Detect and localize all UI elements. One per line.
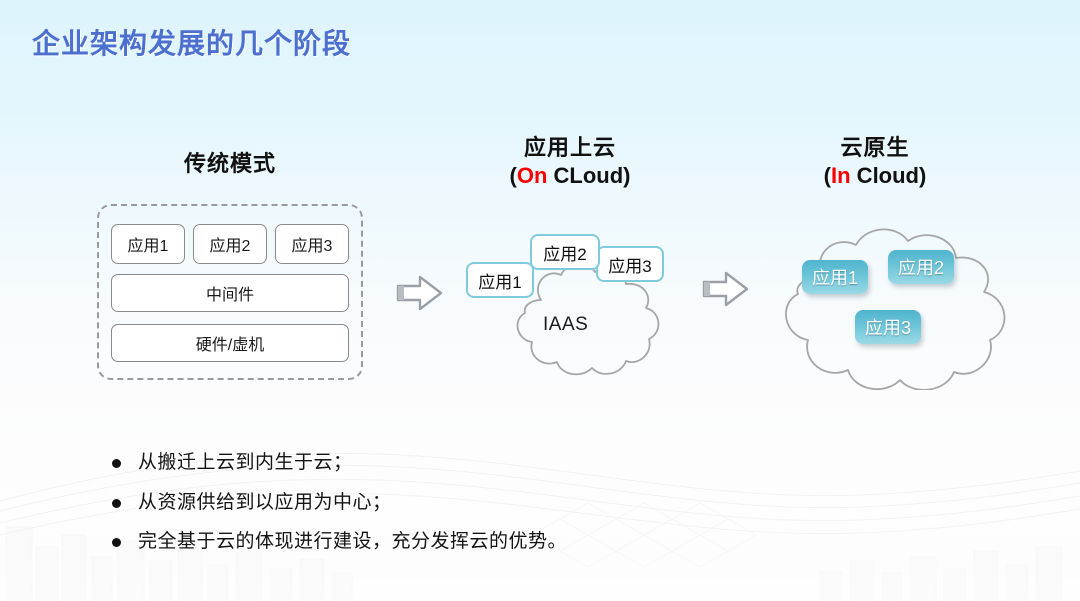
column-heading-traditional: 传统模式 bbox=[97, 150, 363, 178]
in-cloud-app-3[interactable]: 应用3 bbox=[855, 310, 921, 344]
on-cloud-app-1[interactable]: 应用1 bbox=[466, 262, 534, 298]
heading-en-in-cloud-highlight: In bbox=[831, 163, 851, 188]
bullet-list: 从搬迁上云到内生于云； 从资源供给到以应用为中心； 完全基于云的体现进行建设，充… bbox=[112, 450, 567, 569]
bullet-dot-icon bbox=[112, 499, 121, 508]
column-heading-on-cloud: 应用上云 (On CLoud) bbox=[440, 134, 700, 189]
heading-en-in-cloud-rest: Cloud) bbox=[851, 163, 927, 188]
in-cloud-app-1[interactable]: 应用1 bbox=[802, 260, 868, 294]
heading-cn-on-cloud: 应用上云 bbox=[440, 134, 700, 162]
heading-en-on-cloud: (On CLoud) bbox=[440, 162, 700, 190]
heading-en-in-cloud-prefix: ( bbox=[824, 163, 831, 188]
bullet-text-3: 完全基于云的体现进行建设，充分发挥云的优势。 bbox=[138, 529, 567, 555]
bullet-text-2: 从资源供给到以应用为中心； bbox=[138, 490, 392, 516]
traditional-hardware-box[interactable]: 硬件/虚机 bbox=[111, 324, 349, 362]
heading-en-on-cloud-rest: CLoud) bbox=[547, 163, 630, 188]
cloud-native-cloud-shape bbox=[766, 222, 1028, 390]
traditional-middleware-box[interactable]: 中间件 bbox=[111, 274, 349, 312]
page-title: 企业架构发展的几个阶段 bbox=[32, 22, 351, 62]
on-cloud-app-3[interactable]: 应用3 bbox=[596, 246, 664, 282]
bullet-dot-icon bbox=[112, 459, 121, 468]
column-heading-in-cloud: 云原生 (In Cloud) bbox=[745, 134, 1005, 189]
in-cloud-app-2[interactable]: 应用2 bbox=[888, 250, 954, 284]
heading-cn-traditional: 传统模式 bbox=[97, 150, 363, 178]
heading-en-in-cloud: (In Cloud) bbox=[745, 162, 1005, 190]
traditional-apps-row: 应用1 应用2 应用3 bbox=[111, 224, 349, 264]
iaas-label: IAAS bbox=[543, 314, 588, 336]
arrow-oncloud-to-incloud bbox=[700, 268, 752, 310]
on-cloud-app-2[interactable]: 应用2 bbox=[530, 234, 600, 270]
heading-en-on-cloud-highlight: On bbox=[517, 163, 548, 188]
traditional-app-3[interactable]: 应用3 bbox=[275, 224, 349, 264]
heading-cn-in-cloud: 云原生 bbox=[745, 134, 1005, 162]
bullet-dot-icon bbox=[112, 538, 121, 547]
traditional-app-2[interactable]: 应用2 bbox=[193, 224, 267, 264]
list-item: 从搬迁上云到内生于云； bbox=[112, 450, 567, 476]
list-item: 从资源供给到以应用为中心； bbox=[112, 490, 567, 516]
arrow-traditional-to-oncloud bbox=[394, 272, 446, 314]
heading-en-on-cloud-prefix: ( bbox=[510, 163, 517, 188]
list-item: 完全基于云的体现进行建设，充分发挥云的优势。 bbox=[112, 529, 567, 555]
traditional-app-1[interactable]: 应用1 bbox=[111, 224, 185, 264]
bullet-text-1: 从搬迁上云到内生于云； bbox=[138, 450, 353, 476]
